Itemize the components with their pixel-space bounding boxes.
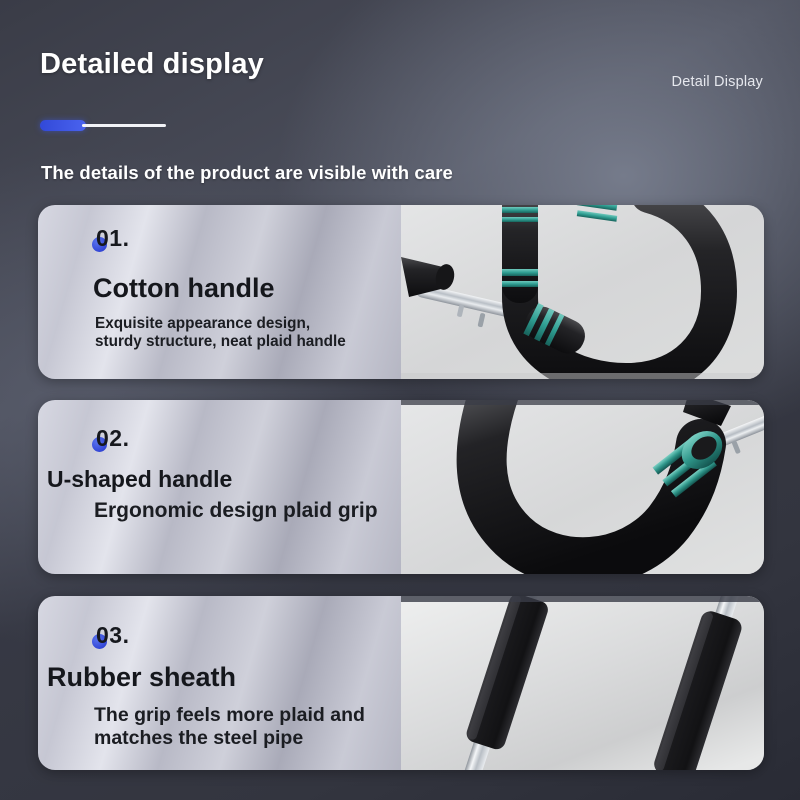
page-title: Detailed display (40, 48, 264, 81)
product-photo-u-handle (401, 205, 764, 379)
card-1-text-panel: 01. Cotton handle Exquisite appearance d… (38, 205, 401, 379)
card-1-number: 01. (96, 225, 129, 252)
detail-card-3[interactable]: 03. Rubber sheath The grip feels more pl… (38, 596, 764, 770)
detail-card-1[interactable]: 01. Cotton handle Exquisite appearance d… (38, 205, 764, 379)
page-subtitle: The details of the product are visible w… (41, 162, 453, 184)
card-1-photo (401, 205, 764, 379)
accent-white-line (82, 124, 166, 127)
product-photo-rubber-sheath (401, 596, 764, 770)
accent-divider (40, 120, 166, 131)
card-3-description: The grip feels more plaid and matches th… (94, 704, 399, 750)
product-photo-u-curve (401, 400, 764, 574)
card-2-description: Ergonomic design plaid grip (94, 499, 394, 524)
card-2-number: 02. (96, 425, 129, 452)
card-2-title: U-shaped handle (47, 466, 232, 493)
card-2-text-panel: 02. U-shaped handle Ergonomic design pla… (38, 400, 401, 574)
header-kicker: Detail Display (672, 74, 763, 90)
card-2-photo (401, 400, 764, 574)
detail-card-2[interactable]: 02. U-shaped handle Ergonomic design pla… (38, 400, 764, 574)
detail-display-page: Detailed display Detail Display The deta… (0, 0, 800, 800)
card-3-text-panel: 03. Rubber sheath The grip feels more pl… (38, 596, 401, 770)
card-1-description: Exquisite appearance design, sturdy stru… (95, 315, 346, 351)
card-1-title: Cotton handle (93, 273, 274, 304)
card-3-photo (401, 596, 764, 770)
accent-blue-bar (40, 120, 86, 131)
card-3-number: 03. (96, 622, 129, 649)
card-3-title: Rubber sheath (47, 662, 236, 693)
